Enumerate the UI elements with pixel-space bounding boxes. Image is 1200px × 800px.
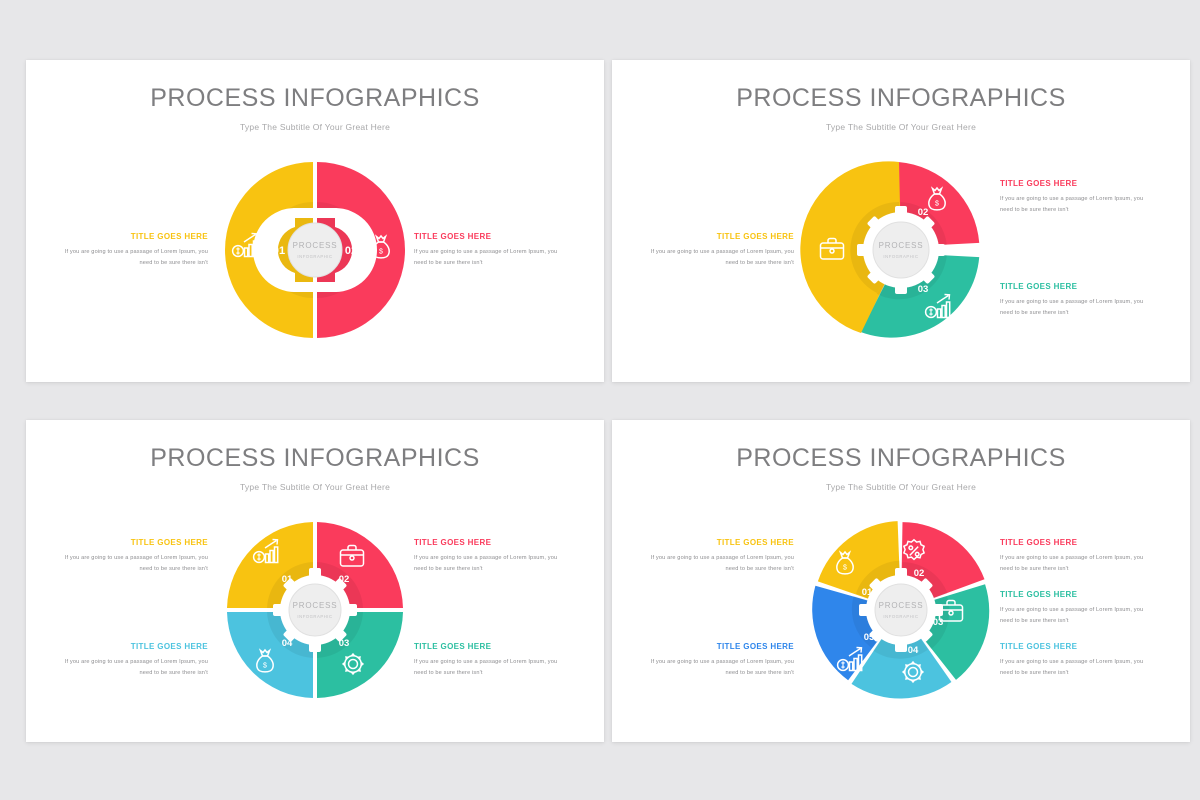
callout-03[interactable]: TITLE GOES HERE If you are going to use … [1000, 590, 1152, 627]
segment-number-04: 04 [282, 638, 293, 649]
svg-text:$: $ [935, 201, 939, 208]
process-wheel-3[interactable]: PROCESS INFOGRAPHIC 01 02 03 $ [791, 140, 1011, 360]
callout-body: If you are going to use a passage of Lor… [56, 657, 208, 679]
callout-body: If you are going to use a passage of Lor… [414, 657, 566, 679]
slide-2-step[interactable]: PROCESS INFOGRAPHICS Type The Subtitle O… [26, 60, 604, 382]
callout-body: If you are going to use a passage of Lor… [1000, 657, 1152, 679]
hub-circle [875, 584, 927, 636]
callout-title: TITLE GOES HERE [56, 538, 208, 547]
segment-number-03: 03 [933, 617, 944, 628]
segment-number-03: 03 [339, 638, 350, 649]
hub-label-main: PROCESS [293, 241, 338, 250]
callout-body: If you are going to use a passage of Lor… [642, 657, 794, 679]
segment-number-05: 05 [864, 632, 875, 643]
callout-title: TITLE GOES HERE [1000, 642, 1152, 651]
svg-text:$: $ [379, 249, 383, 256]
segment-number-04: 04 [908, 645, 919, 656]
hub-label-main: PROCESS [879, 601, 924, 610]
page-subtitle: Type The Subtitle Of Your Great Here [612, 482, 1190, 492]
slide-header: PROCESS INFOGRAPHICS Type The Subtitle O… [612, 420, 1190, 492]
svg-text:$: $ [263, 663, 267, 670]
callout-01[interactable]: TITLE GOES HERE If you are going to use … [56, 538, 208, 575]
callout-03[interactable]: TITLE GOES HERE If you are going to use … [414, 642, 566, 679]
hub-label-main: PROCESS [879, 241, 924, 250]
page-subtitle: Type The Subtitle Of Your Great Here [26, 122, 604, 132]
hub-circle [873, 222, 929, 278]
callout-03[interactable]: TITLE GOES HERE If you are going to use … [1000, 282, 1152, 319]
hub-label-sub: INFOGRAPHIC [883, 614, 918, 619]
page-title: PROCESS INFOGRAPHICS [612, 84, 1190, 113]
page-title: PROCESS INFOGRAPHICS [26, 84, 604, 113]
slide-header: PROCESS INFOGRAPHICS Type The Subtitle O… [26, 60, 604, 132]
page-subtitle: Type The Subtitle Of Your Great Here [26, 482, 604, 492]
callout-title: TITLE GOES HERE [414, 642, 566, 651]
callout-title: TITLE GOES HERE [56, 232, 208, 241]
callout-body: If you are going to use a passage of Lor… [1000, 553, 1152, 575]
segment-number-03: 03 [918, 284, 929, 295]
callout-01[interactable]: TITLE GOES HERE If you are going to use … [642, 538, 794, 575]
segment-number-01: 01 [282, 574, 293, 585]
callout-title: TITLE GOES HERE [1000, 282, 1152, 291]
callout-body: If you are going to use a passage of Lor… [1000, 605, 1152, 627]
callout-title: TITLE GOES HERE [414, 232, 566, 241]
callout-body: If you are going to use a passage of Lor… [414, 247, 566, 269]
callout-02[interactable]: TITLE GOES HERE If you are going to use … [414, 232, 566, 269]
slide-4-step[interactable]: PROCESS INFOGRAPHICS Type The Subtitle O… [26, 420, 604, 742]
hub-label-main: PROCESS [293, 601, 338, 610]
hub-label-sub: INFOGRAPHIC [297, 614, 332, 619]
callout-title: TITLE GOES HERE [56, 642, 208, 651]
callout-title: TITLE GOES HERE [414, 538, 566, 547]
callout-title: TITLE GOES HERE [642, 538, 794, 547]
callout-body: If you are going to use a passage of Lor… [1000, 297, 1152, 319]
slide-3-step[interactable]: PROCESS INFOGRAPHICS Type The Subtitle O… [612, 60, 1190, 382]
slide-5-step[interactable]: PROCESS INFOGRAPHICS Type The Subtitle O… [612, 420, 1190, 742]
callout-body: If you are going to use a passage of Lor… [414, 553, 566, 575]
hub-label-sub: INFOGRAPHIC [883, 254, 918, 259]
callout-04[interactable]: TITLE GOES HERE If you are going to use … [56, 642, 208, 679]
slide-header: PROCESS INFOGRAPHICS Type The Subtitle O… [26, 420, 604, 492]
page-title: PROCESS INFOGRAPHICS [612, 444, 1190, 473]
callout-02[interactable]: TITLE GOES HERE If you are going to use … [1000, 179, 1152, 216]
callout-02[interactable]: TITLE GOES HERE If you are going to use … [1000, 538, 1152, 575]
svg-text:$: $ [843, 565, 847, 572]
callout-body: If you are going to use a passage of Lor… [642, 553, 794, 575]
hub-circle [288, 223, 342, 277]
callout-title: TITLE GOES HERE [642, 232, 794, 241]
callout-body: If you are going to use a passage of Lor… [1000, 194, 1152, 216]
callout-04[interactable]: TITLE GOES HERE If you are going to use … [1000, 642, 1152, 679]
segment-number-01: 01 [273, 245, 285, 257]
page-subtitle: Type The Subtitle Of Your Great Here [612, 122, 1190, 132]
callout-title: TITLE GOES HERE [642, 642, 794, 651]
segment-number-02: 02 [345, 245, 357, 257]
segment-number-01: 01 [862, 587, 873, 598]
callout-05[interactable]: TITLE GOES HERE If you are going to use … [642, 642, 794, 679]
segment-number-02: 02 [914, 568, 925, 579]
hub-label-sub: INFOGRAPHIC [297, 254, 332, 259]
hub-circle [289, 584, 341, 636]
slide-header: PROCESS INFOGRAPHICS Type The Subtitle O… [612, 60, 1190, 132]
segment-number-02: 02 [339, 574, 350, 585]
segment-number-02: 02 [918, 207, 929, 218]
callout-01[interactable]: TITLE GOES HERE If you are going to use … [56, 232, 208, 269]
callout-body: If you are going to use a passage of Lor… [642, 247, 794, 269]
callout-01[interactable]: TITLE GOES HERE If you are going to use … [642, 232, 794, 269]
callout-title: TITLE GOES HERE [1000, 590, 1152, 599]
callout-body: If you are going to use a passage of Lor… [56, 553, 208, 575]
slide-deck: PROCESS INFOGRAPHICS Type The Subtitle O… [0, 0, 1200, 800]
callout-body: If you are going to use a passage of Lor… [56, 247, 208, 269]
process-wheel-5[interactable]: PROCESS INFOGRAPHIC 01 02 03 04 05 $ [791, 500, 1011, 720]
callout-title: TITLE GOES HERE [1000, 179, 1152, 188]
page-title: PROCESS INFOGRAPHICS [26, 444, 604, 473]
process-wheel-4[interactable]: PROCESS INFOGRAPHIC 01 02 03 04 [205, 500, 425, 720]
process-wheel-2[interactable]: PROCESS INFOGRAPHIC 01 02 [205, 140, 425, 360]
segment-number-01: 01 [860, 246, 871, 257]
callout-02[interactable]: TITLE GOES HERE If you are going to use … [414, 538, 566, 575]
callout-title: TITLE GOES HERE [1000, 538, 1152, 547]
